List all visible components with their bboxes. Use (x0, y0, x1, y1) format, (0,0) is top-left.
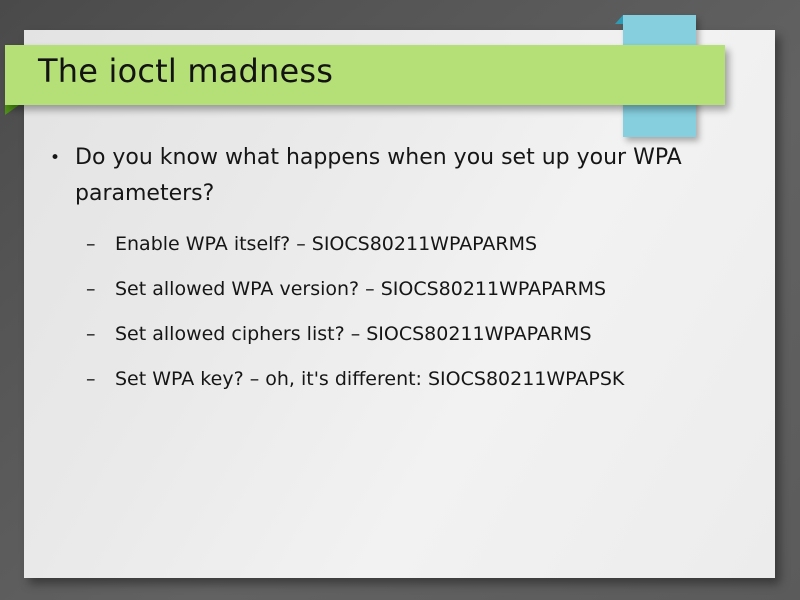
sub-bullet-item: – Enable WPA itself? – SIOCS80211WPAPARM… (24, 222, 775, 267)
sub-bullet-text: Set allowed WPA version? – SIOCS80211WPA… (115, 278, 606, 300)
bullet-marker-dash-icon: – (86, 222, 96, 267)
sub-bullet-item: – Set allowed ciphers list? – SIOCS80211… (24, 312, 775, 357)
sub-bullet-text: Set allowed ciphers list? – SIOCS80211WP… (115, 323, 592, 345)
green-fold-corner-icon (5, 105, 19, 115)
slide-title: The ioctl madness (38, 52, 333, 90)
sub-bullet-item: – Set allowed WPA version? – SIOCS80211W… (24, 267, 775, 312)
sub-bullet-text: Enable WPA itself? – SIOCS80211WPAPARMS (115, 233, 537, 255)
sub-bullet-text: Set WPA key? – oh, it's different: SIOCS… (115, 368, 624, 390)
sub-bullet-list: – Enable WPA itself? – SIOCS80211WPAPARM… (24, 222, 775, 402)
bullet-item-primary: • Do you know what happens when you set … (24, 140, 775, 212)
slide-body: • Do you know what happens when you set … (24, 140, 775, 402)
bullet-marker-dash-icon: – (86, 357, 96, 402)
bullet-text-primary: Do you know what happens when you set up… (75, 145, 682, 206)
sub-bullet-item: – Set WPA key? – oh, it's different: SIO… (24, 357, 775, 402)
presentation-frame: The ioctl madness • Do you know what hap… (0, 0, 800, 600)
bullet-marker-dash-icon: – (86, 267, 96, 312)
bullet-marker-dash-icon: – (86, 312, 96, 357)
blue-fold-corner-icon (615, 15, 623, 24)
bullet-marker-dot-icon: • (50, 140, 60, 176)
